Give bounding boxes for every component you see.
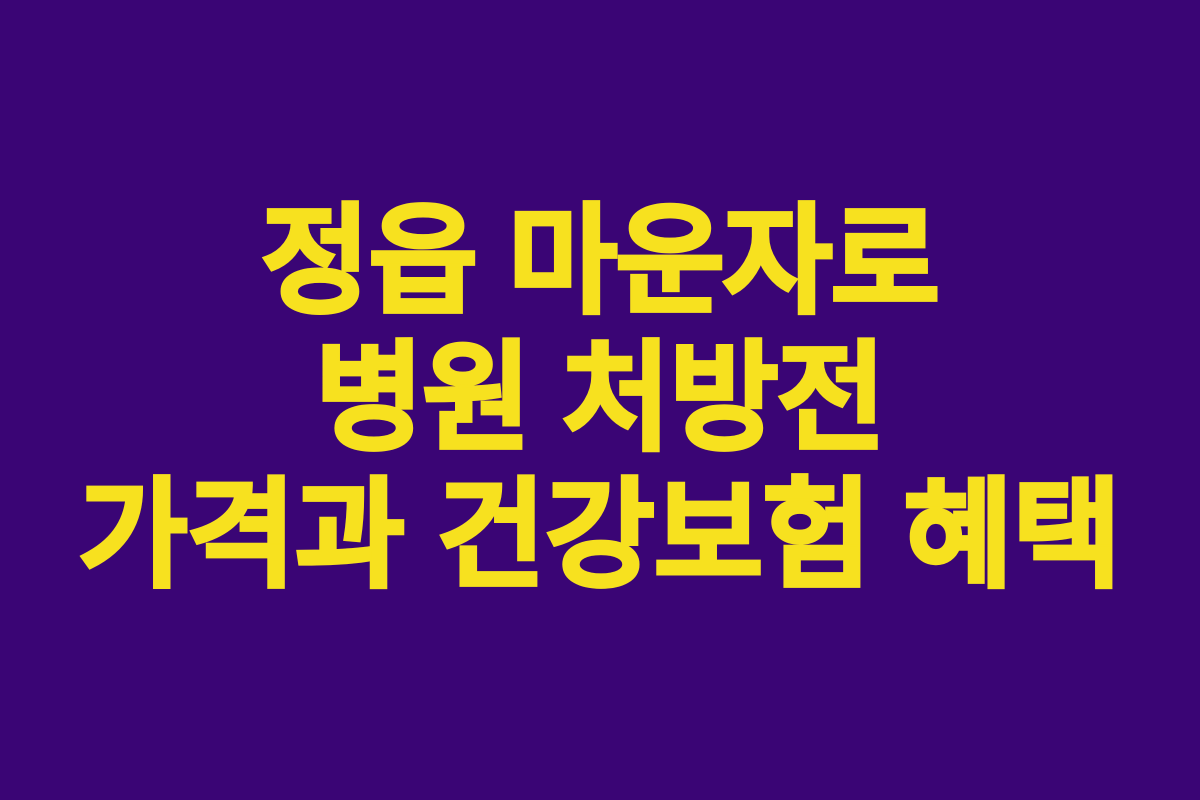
headline-line-1: 정읍 마운자로 (261, 194, 938, 331)
headline-line-2: 병원 처방전 (315, 331, 885, 468)
headline-line-3: 가격과 건강보험 혜택 (79, 468, 1122, 605)
banner-thumbnail: 정읍 마운자로 병원 처방전 가격과 건강보험 혜택 (0, 0, 1200, 800)
headline-block: 정읍 마운자로 병원 처방전 가격과 건강보험 혜택 (0, 194, 1200, 605)
